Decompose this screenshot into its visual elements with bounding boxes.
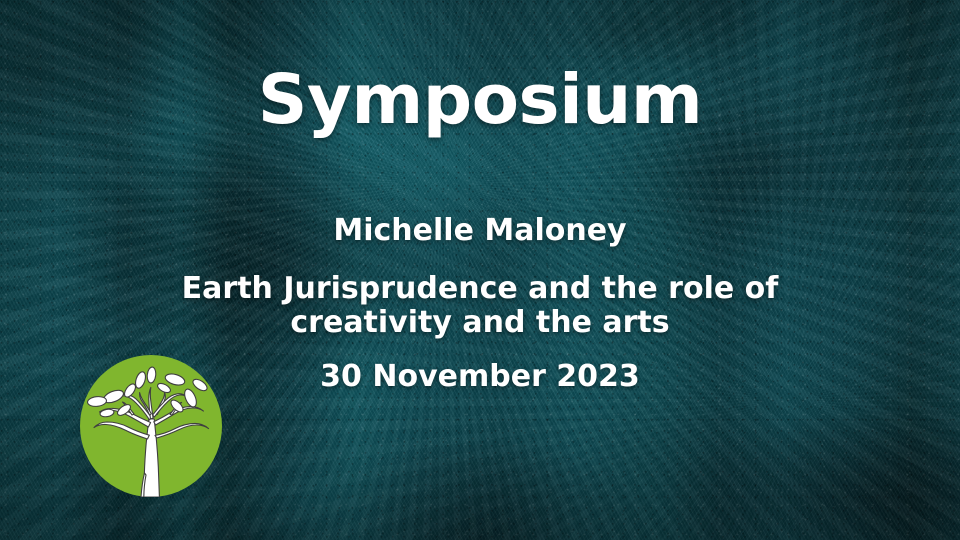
slide-title: Symposium [0,66,960,135]
talk-title: Earth Jurisprudence and the role of crea… [0,272,960,340]
tree-logo [80,355,222,497]
presentation-slide: Symposium Michelle Maloney Earth Jurispr… [0,0,960,540]
speaker-name: Michelle Maloney [0,214,960,247]
talk-title-line-1: Earth Jurisprudence and the role of [182,271,779,306]
talk-title-line-2: creativity and the arts [0,306,960,340]
